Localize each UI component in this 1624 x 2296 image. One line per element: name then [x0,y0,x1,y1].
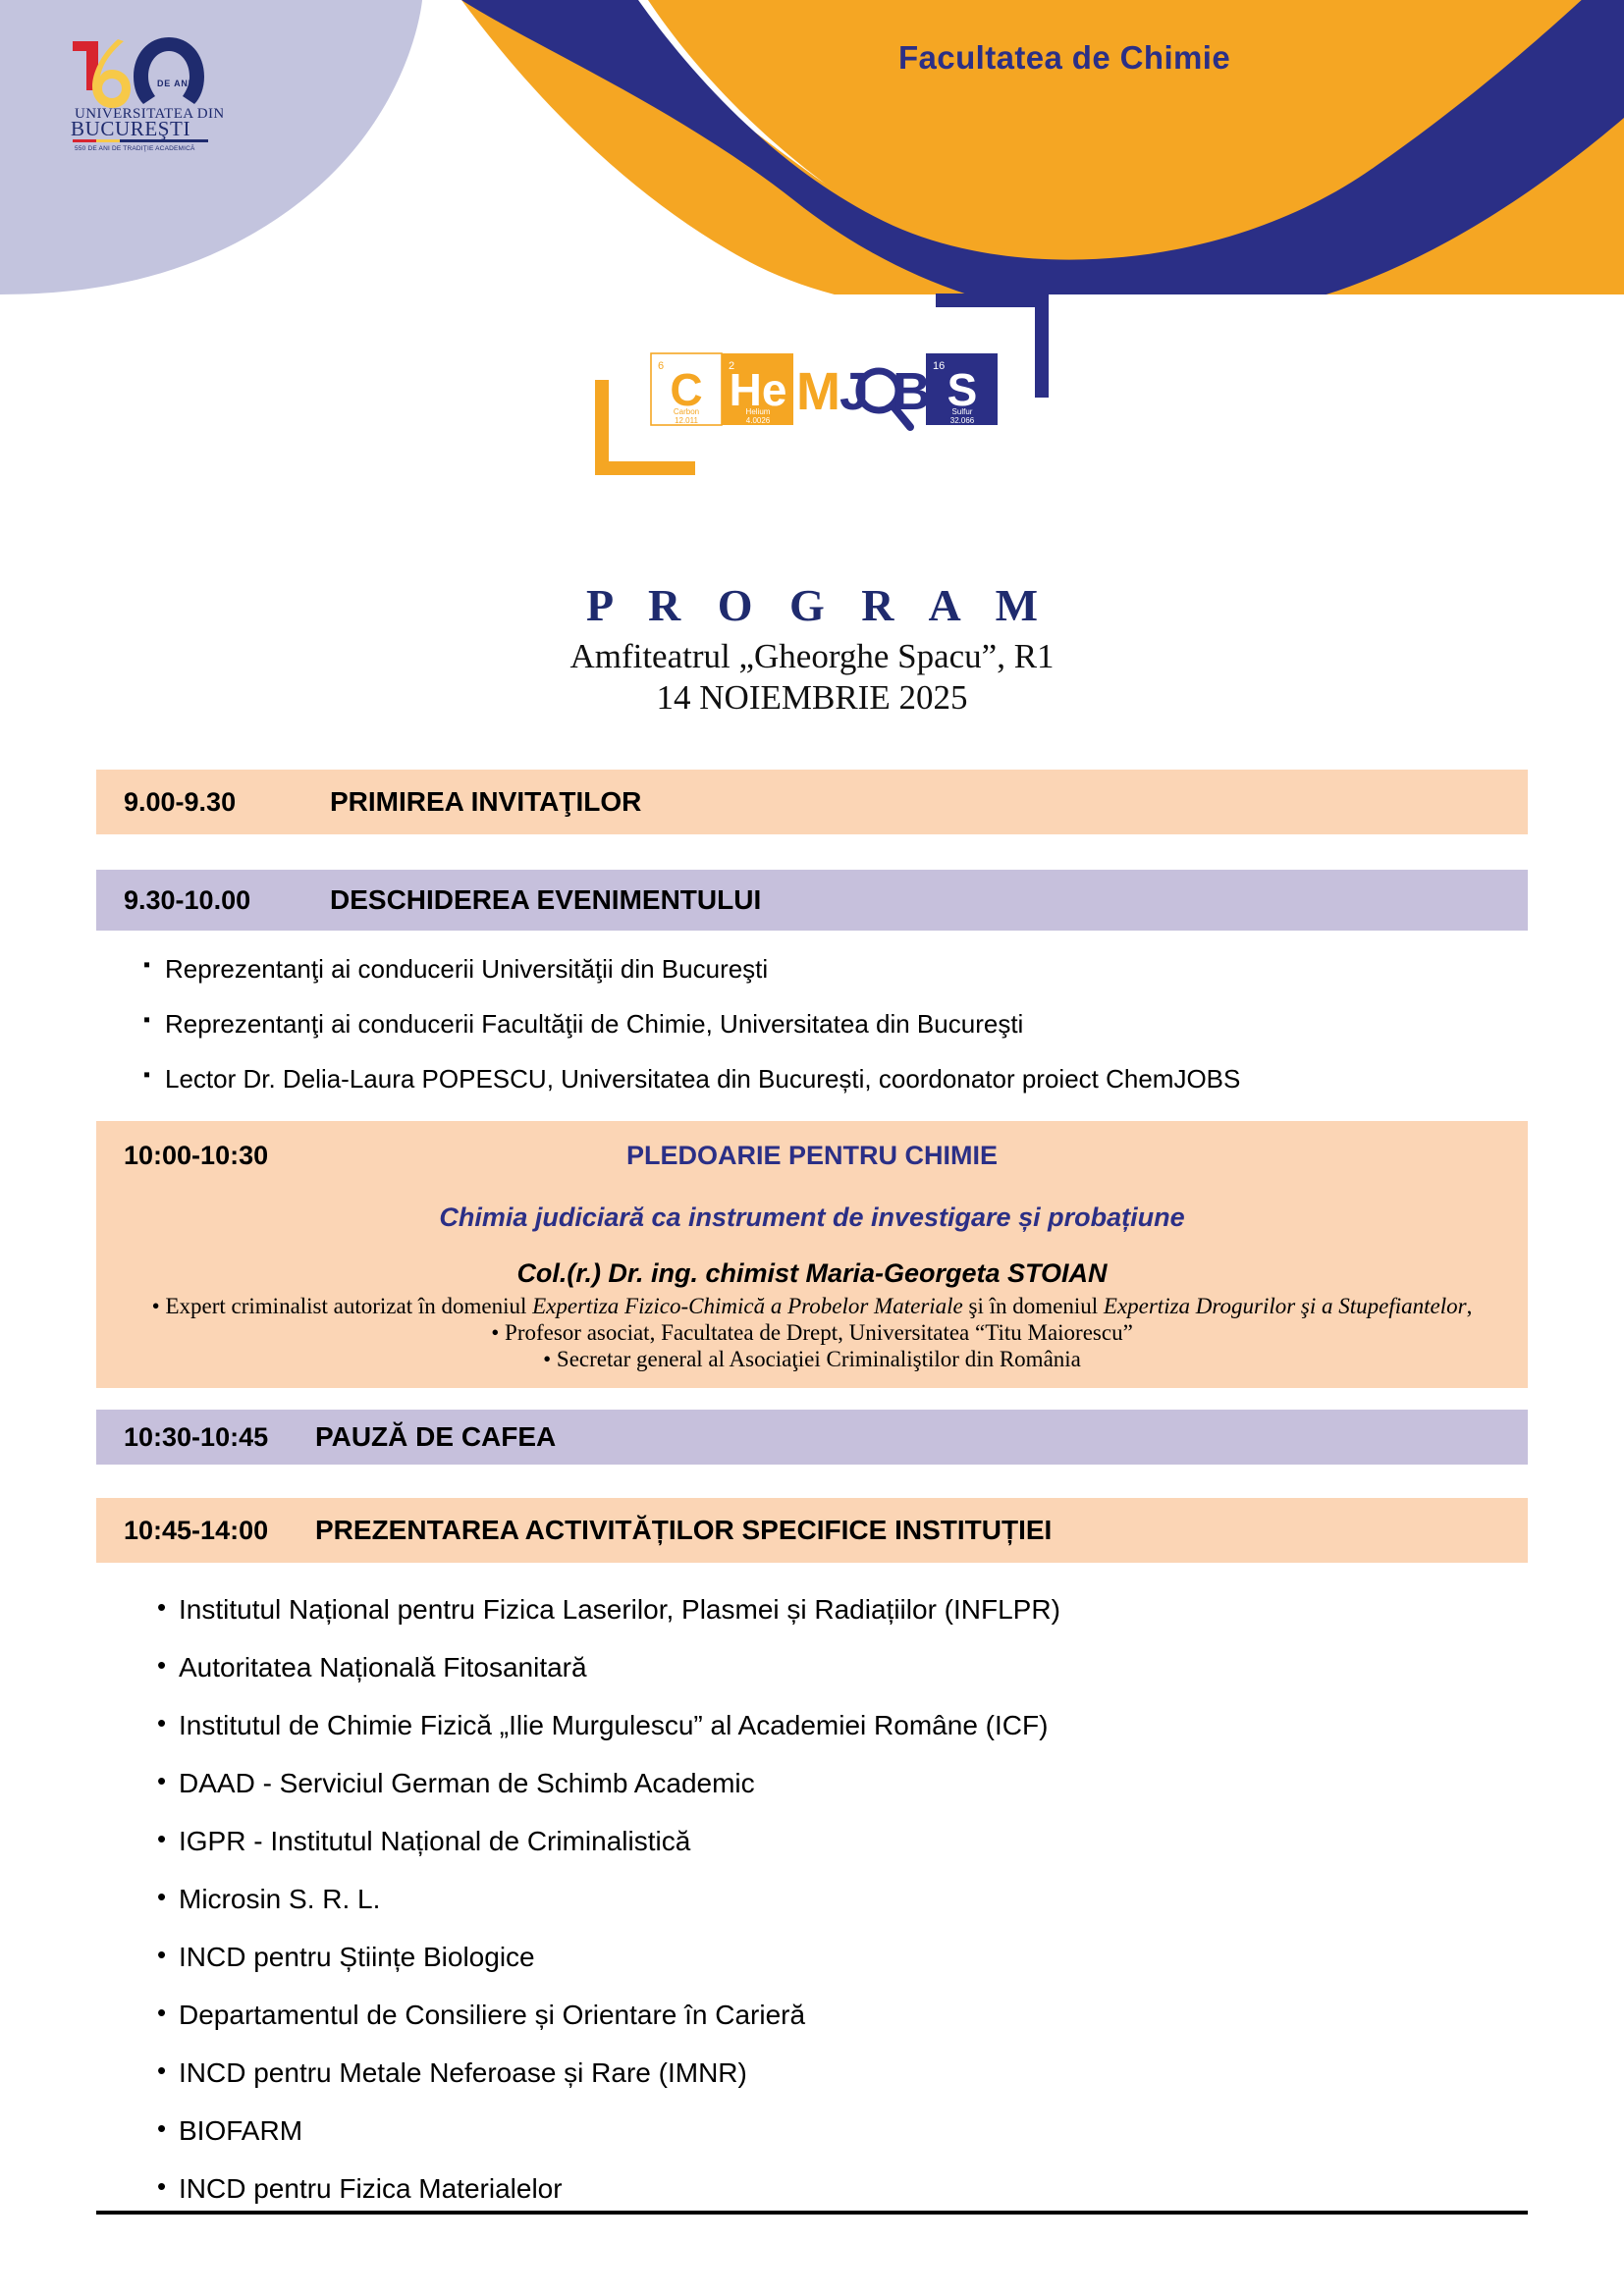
credential-text: Profesor asociat, Facultatea de Drept, U… [505,1320,1133,1345]
schedule-row-pledoarie: 10:00-10:30 PLEDOARIE PENTRU CHIMIE Chim… [96,1121,1528,1388]
svg-text:16: 16 [933,360,945,372]
pledoarie-subtitle: Chimia judiciară ca instrument de invest… [114,1202,1510,1233]
list-item: Reprezentanţi ai conducerii Universităţi… [143,956,1624,982]
header-decoration [0,0,1624,294]
credential-italic-2: Expertiza Drogurilor şi a Stupefiantelor [1104,1294,1467,1318]
credential-bullet: • [543,1347,557,1371]
schedule-row-deschiderea: 9.30-10.00 DESCHIDEREA EVENIMENTULUI [96,870,1528,931]
list-item: INCD pentru Fizica Materialelor [157,2175,1624,2203]
svg-text:Carbon: Carbon [674,407,699,416]
primirea-time: 9.00-9.30 [124,787,330,818]
credential-bullet: • [491,1320,505,1345]
svg-text:12.011: 12.011 [675,416,698,425]
list-item: DAAD - Serviciul German de Schimb Academ… [157,1770,1624,1797]
svg-text:B: B [893,362,931,421]
pledoarie-time: 10:00-10:30 [124,1141,268,1171]
pledoarie-credentials: • Expert criminalist autorizat în domeni… [114,1293,1510,1372]
prezentarea-time: 10:45-14:00 [124,1516,315,1546]
pledoarie-speaker: Col.(r.) Dr. ing. chimist Maria-Georgeta… [114,1258,1510,1289]
title-block: P R O G R A M Amfiteatrul „Gheorghe Spac… [0,579,1624,719]
credential-item-1: • Profesor asociat, Facultatea de Drept,… [114,1319,1510,1346]
credential-item-2: • Secretar general al Asociaţiei Crimina… [114,1346,1510,1372]
list-item: Reprezentanţi ai conducerii Facultăţii d… [143,1011,1624,1037]
list-item: Microsin S. R. L. [157,1886,1624,1913]
credential-bullet: • [152,1294,166,1318]
svg-text:Helium: Helium [746,407,771,416]
svg-text:M: M [796,362,840,421]
schedule-row-pauza: 10:30-10:45 PAUZĂ DE CAFEA [96,1410,1528,1465]
credential-middle: şi în domeniul [963,1294,1104,1318]
deschiderea-time: 9.30-10.00 [124,885,330,916]
footer-divider [96,2211,1528,2215]
prezentarea-label: PREZENTAREA ACTIVITĂȚILOR SPECIFICE INST… [315,1515,1052,1546]
list-item: Institutul Național pentru Fizica Laseri… [157,1596,1624,1624]
credential-text: Secretar general al Asociaţiei Criminali… [557,1347,1081,1371]
list-item: Institutul de Chimie Fizică „Ilie Murgul… [157,1712,1624,1739]
chemjobs-logo: 6 C Carbon 12.011 2 He Helium 4.0026 M J… [587,290,1058,476]
svg-text:J: J [839,362,869,421]
list-item: INCD pentru Metale Neferoase și Rare (IM… [157,2059,1624,2087]
credential-item-0: • Expert criminalist autorizat în domeni… [114,1293,1510,1319]
pledoarie-heading: PLEDOARIE PENTRU CHIMIE [114,1141,1510,1171]
page-title: P R O G R A M [0,579,1624,631]
svg-text:6: 6 [658,360,664,372]
svg-text:Sulfur: Sulfur [952,407,973,416]
faculty-title: Facultatea de Chimie [898,39,1230,77]
pauza-time: 10:30-10:45 [124,1422,315,1453]
university-logo: DE ANI UNIVERSITATEA DIN BUCUREŞTI 550 D… [61,29,223,152]
venue-line: Amfiteatrul „Gheorghe Spacu”, R1 [0,637,1624,676]
list-item: BIOFARM [157,2117,1624,2145]
svg-text:BUCUREŞTI: BUCUREŞTI [71,117,190,140]
schedule-row-prezentarea: 10:45-14:00 PREZENTAREA ACTIVITĂȚILOR SP… [96,1498,1528,1563]
deschiderea-items: Reprezentanţi ai conducerii Universităţi… [0,956,1624,1092]
credential-prefix: Expert criminalist autorizat în domeniul [165,1294,532,1318]
svg-text:4.0026: 4.0026 [746,416,771,425]
pauza-label: PAUZĂ DE CAFEA [315,1421,556,1453]
schedule-row-primirea: 9.00-9.30 PRIMIREA INVITAŢILOR [96,770,1528,834]
svg-text:DE ANI: DE ANI [157,79,191,88]
list-item: INCD pentru Științe Biologice [157,1944,1624,1971]
page-header: DE ANI UNIVERSITATEA DIN BUCUREŞTI 550 D… [0,0,1624,294]
credential-suffix: , [1467,1294,1473,1318]
list-item: Departamentul de Consiliere și Orientare… [157,2002,1624,2029]
schedule: 9.00-9.30 PRIMIREA INVITAŢILOR 9.30-10.0… [0,770,1624,2233]
list-item: IGPR - Institutul Național de Criminalis… [157,1828,1624,1855]
svg-text:32.066: 32.066 [950,416,975,425]
credential-italic-1: Expertiza Fizico-Chimică a Probelor Mate… [532,1294,963,1318]
date-line: 14 NOIEMBRIE 2025 [0,678,1624,718]
svg-text:550 DE ANI DE TRADIŢIE ACADEMI: 550 DE ANI DE TRADIŢIE ACADEMICĂ [75,143,195,152]
institution-list: Institutul Național pentru Fizica Laseri… [0,1596,1624,2203]
primirea-label: PRIMIREA INVITAŢILOR [330,786,641,818]
list-item: Autoritatea Națională Fitosanitară [157,1654,1624,1682]
deschiderea-label: DESCHIDEREA EVENIMENTULUI [330,884,761,916]
list-item: Lector Dr. Delia-Laura POPESCU, Universi… [143,1066,1624,1092]
